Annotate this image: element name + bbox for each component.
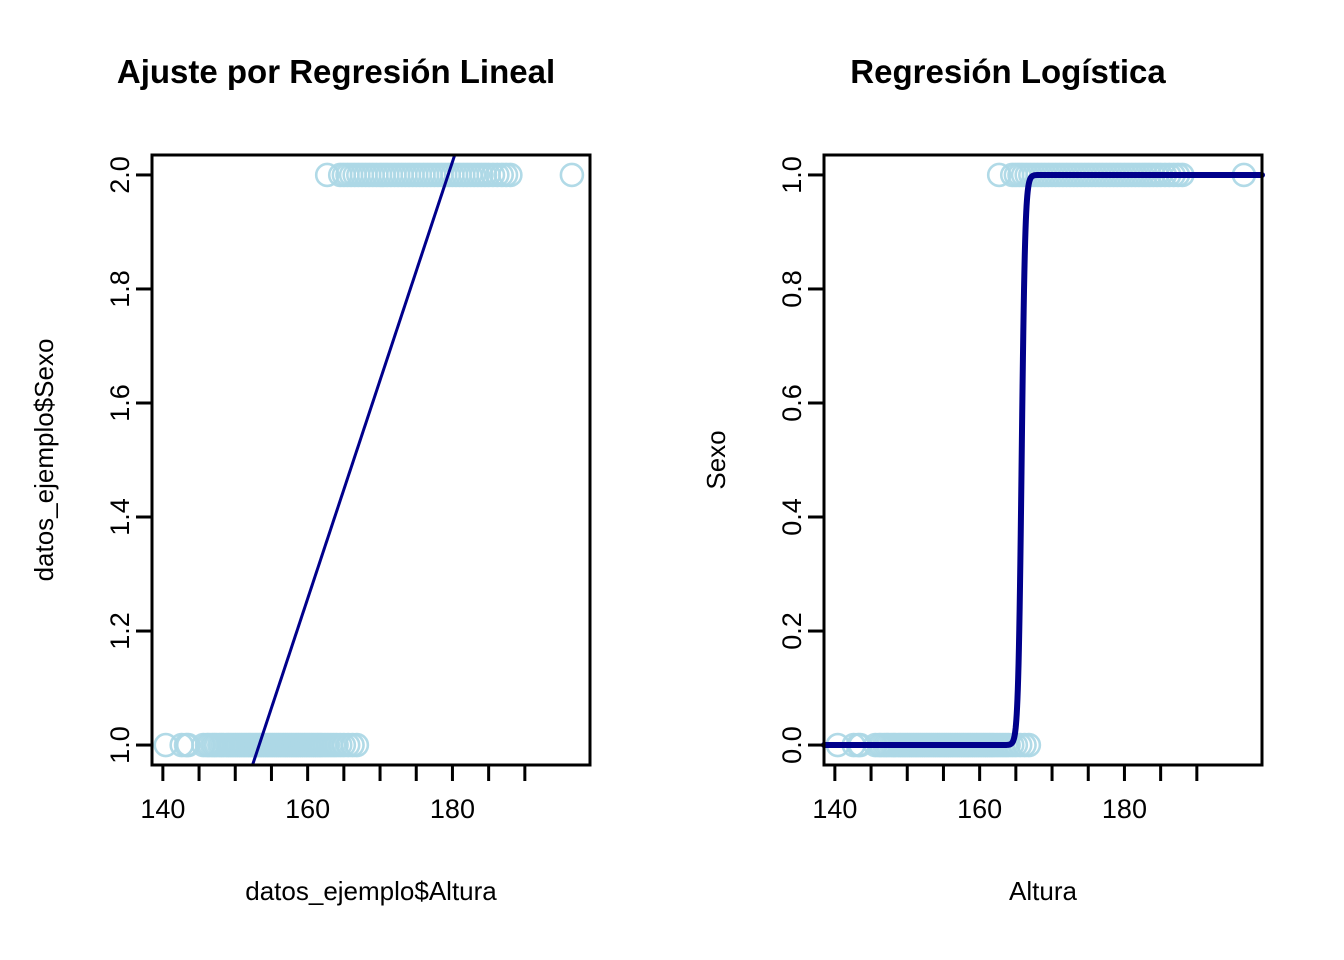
svg-text:180: 180 (430, 794, 475, 824)
svg-text:datos_ejemplo$Sexo: datos_ejemplo$Sexo (29, 339, 59, 582)
linear-scatter-points (155, 164, 583, 756)
svg-text:180: 180 (1102, 794, 1147, 824)
svg-text:2.0: 2.0 (105, 156, 135, 194)
panel-linear-regression: Ajuste por Regresión Lineal 1401601801.0… (0, 0, 672, 960)
linear-fit-line (253, 157, 454, 765)
svg-text:1.0: 1.0 (105, 726, 135, 764)
svg-text:1.6: 1.6 (105, 384, 135, 422)
svg-text:datos_ejemplo$Altura: datos_ejemplo$Altura (245, 876, 497, 906)
svg-text:0.0: 0.0 (777, 726, 807, 764)
svg-text:0.4: 0.4 (777, 498, 807, 536)
linear-axis-labels: 1401601801.01.21.41.61.82.0datos_ejemplo… (29, 156, 497, 906)
svg-text:0.8: 0.8 (777, 270, 807, 308)
logistic-fit-curve (824, 175, 1262, 745)
svg-text:0.6: 0.6 (777, 384, 807, 422)
svg-text:Sexo: Sexo (701, 430, 731, 489)
svg-text:140: 140 (140, 794, 185, 824)
linear-axes (136, 155, 590, 781)
panel-logistic-regression: Regresión Logística 1401601800.00.20.40.… (672, 0, 1344, 960)
svg-text:1.4: 1.4 (105, 498, 135, 536)
panel-logistic-plot: 1401601800.00.20.40.60.81.0AlturaSexo (672, 0, 1344, 960)
logistic-axes (808, 155, 1262, 781)
svg-text:Altura: Altura (1009, 876, 1077, 906)
logistic-axis-labels: 1401601800.00.20.40.60.81.0AlturaSexo (701, 156, 1147, 906)
svg-text:1.0: 1.0 (777, 156, 807, 194)
logistic-scatter-points (827, 164, 1255, 756)
figure-canvas: Ajuste por Regresión Lineal 1401601801.0… (0, 0, 1344, 960)
svg-text:160: 160 (957, 794, 1002, 824)
svg-text:1.2: 1.2 (105, 612, 135, 650)
svg-text:0.2: 0.2 (777, 612, 807, 650)
svg-text:140: 140 (812, 794, 857, 824)
panel-linear-plot: 1401601801.01.21.41.61.82.0datos_ejemplo… (0, 0, 672, 960)
svg-text:160: 160 (285, 794, 330, 824)
svg-text:1.8: 1.8 (105, 270, 135, 308)
